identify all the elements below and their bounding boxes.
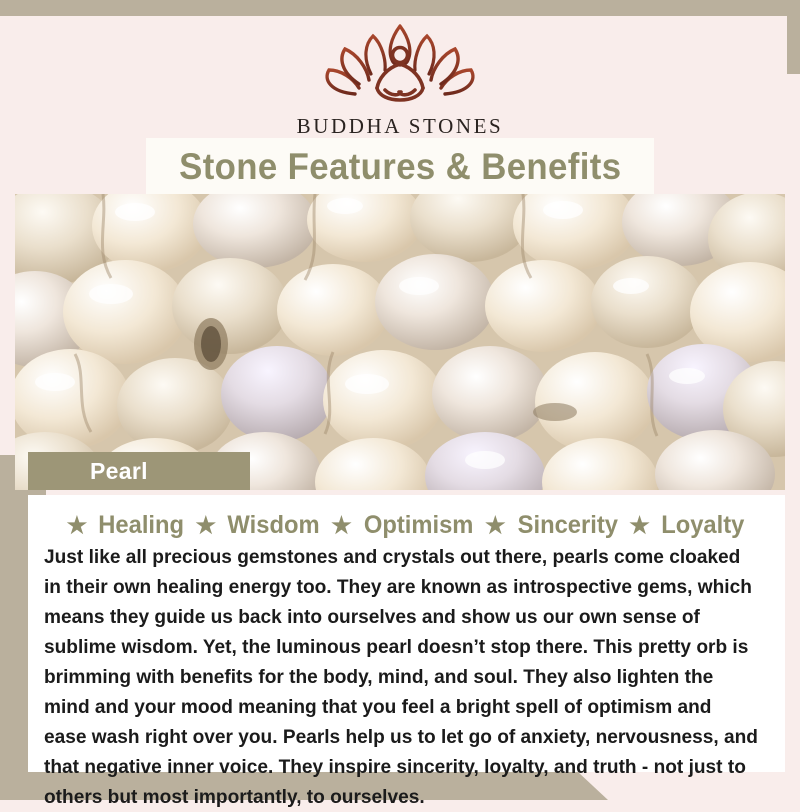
left-accent-band [0,489,28,800]
top-accent-band [0,0,800,16]
title-banner: Stone Features & Benefits [146,138,654,195]
keyword-optimism: Optimism [364,511,474,540]
star-icon: ★ [485,514,506,537]
lotus-meditation-icon [315,18,485,110]
star-icon: ★ [629,514,650,537]
keyword-loyalty: Loyalty [661,511,744,540]
keyword-wisdom: Wisdom [228,511,320,540]
brand-logo: BUDDHA STONES [0,18,800,139]
star-icon: ★ [195,514,216,537]
photo-caption-bar: Pearl [28,452,250,490]
benefits-card: ★ Healing ★ Wisdom ★ Optimism ★ Sincerit… [28,495,785,772]
star-icon: ★ [331,514,352,537]
keyword-healing: Healing [98,511,184,540]
pearl-photo [15,194,785,490]
keyword-sincerity: Sincerity [517,511,617,540]
star-icon: ★ [67,514,88,537]
stone-name-label: Pearl [90,458,148,485]
description-text: Just like all precious gemstones and cry… [44,542,758,812]
page-title: Stone Features & Benefits [179,146,621,188]
keyword-list: ★ Healing ★ Wisdom ★ Optimism ★ Sincerit… [32,495,781,540]
brand-name: BUDDHA STONES [297,114,504,139]
